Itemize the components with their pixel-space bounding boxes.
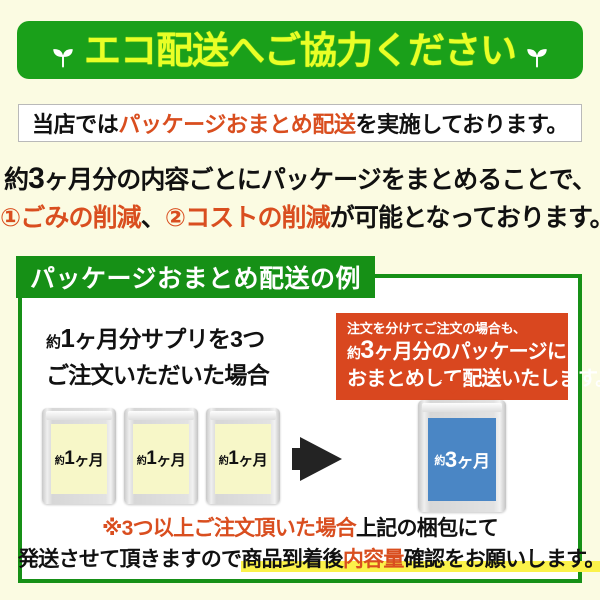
example-footnote: ※3つ以上ご注文頂いた場合上記の梱包にて 発送させて頂きますので商品到着後内容量…: [18, 513, 582, 575]
pouch-seal: [128, 411, 194, 420]
statement-highlight: パッケージおまとめ配送: [118, 107, 355, 139]
body-benefit-2: ②コストの削減: [165, 204, 330, 232]
callout-line-1-pre: 約: [347, 345, 360, 361]
pouch-after-consolidated: 約3ヶ月: [418, 400, 506, 512]
pouch-label-unit: ヶ月: [156, 449, 185, 470]
body-benefit-1: ①ごみの削減: [0, 204, 141, 232]
body-line-2-suffix: が可能となっております。: [330, 204, 600, 232]
body-benefit-separator: 、: [141, 204, 165, 232]
statement-box: 当店ではパッケージおまとめ配送を実施しております。: [18, 104, 582, 142]
footnote-marked-highlight: 内容量: [343, 548, 404, 571]
pouch-seal: [46, 411, 112, 420]
pouch-label-number: 3: [445, 447, 457, 473]
statement-suffix: を実施しております。: [356, 107, 568, 139]
body-line-1-rest: ヶ月分の内容ごとにパッケージをまとめることで、: [44, 166, 596, 194]
pouch-label-number: 1: [64, 448, 74, 470]
sprout-icon-right: [522, 41, 552, 71]
eco-delivery-header-banner: エコ配送へご協力ください: [17, 21, 583, 79]
left-caption-rest: ヶ月分サプリを3つ: [74, 326, 265, 352]
footnote-marked-text: 商品到着後内容量確認をお願いします。: [241, 548, 600, 572]
pouch-before-2: 約1ヶ月: [124, 408, 198, 504]
footnote-line-2: 発送させて頂きますので商品到着後内容量確認をお願いします。: [18, 544, 582, 575]
footnote-marked-part-2: 確認をお願いします。: [404, 548, 600, 571]
pouch-before-3: 約1ヶ月: [206, 408, 280, 504]
body-line-1-pre: 約: [4, 166, 28, 194]
pouch-label-number: 1: [228, 448, 238, 470]
callout-pointer-icon: [440, 381, 466, 394]
left-caption-line-2: ご注文いただいた場合: [46, 359, 336, 391]
callout-line-1-number: 3: [360, 336, 373, 364]
pouch-seal: [210, 411, 276, 420]
body-description: 約3ヶ月分の内容ごとにパッケージをまとめることで、 ①ごみの削減、②コストの削減…: [0, 160, 600, 237]
pouch-label: 約1ヶ月: [51, 424, 107, 494]
body-line-1-number: 3: [28, 162, 44, 195]
left-caption-number: 1: [60, 323, 74, 353]
pouch-label-pre: 約: [219, 452, 229, 467]
body-line-1: 約3ヶ月分の内容ごとにパッケージをまとめることで、: [0, 160, 600, 199]
page-title: エコ配送へご協力ください: [84, 32, 516, 69]
left-caption-line-1: 約1ヶ月分サプリを3つ: [46, 322, 336, 359]
pouch-label-unit: ヶ月: [74, 449, 103, 470]
left-caption-pre: 約: [46, 334, 60, 351]
example-panel-tab: パッケージおまとめ配送の例: [16, 256, 375, 298]
statement-prefix: 当店では: [32, 107, 118, 139]
pouch-label-pre: 約: [137, 452, 147, 467]
pouch-label-pre: 約: [55, 452, 65, 467]
sprout-icon-left: [48, 41, 78, 71]
body-line-2: ①ごみの削減、②コストの削減が可能となっております。: [0, 199, 600, 237]
pouch-seal: [422, 403, 502, 412]
pouch-label: 約1ヶ月: [133, 424, 189, 494]
pouch-label-unit: ヶ月: [238, 449, 267, 470]
footnote-highlight: ※3つ以上ご注文頂いた場合: [102, 517, 356, 540]
pouch-label: 約1ヶ月: [215, 424, 271, 494]
callout-line-1: 約3ヶ月分のパッケージに: [347, 337, 558, 366]
pouch-label: 約3ヶ月: [428, 418, 496, 501]
callout-small-line: 注文を分けてご注文の場合も、: [347, 320, 558, 337]
footnote-line-1-rest: 上記の梱包にて: [356, 517, 498, 540]
pouch-before-1: 約1ヶ月: [42, 408, 116, 504]
callout-line-1-rest: ヶ月分のパッケージに: [374, 341, 567, 363]
footnote-line-1: ※3つ以上ご注文頂いた場合上記の梱包にて: [18, 513, 582, 544]
footnote-line-2-part-1: 発送させて頂きますので: [18, 548, 241, 571]
footnote-marked-part-1: 商品到着後: [241, 548, 343, 571]
pouch-label-pre: 約: [434, 452, 445, 468]
pouch-label-unit: ヶ月: [457, 447, 490, 472]
pouch-label-number: 1: [146, 448, 156, 470]
right-arrow-icon: [300, 437, 342, 481]
example-left-caption: 約1ヶ月分サプリを3つ ご注文いただいた場合: [46, 322, 336, 391]
